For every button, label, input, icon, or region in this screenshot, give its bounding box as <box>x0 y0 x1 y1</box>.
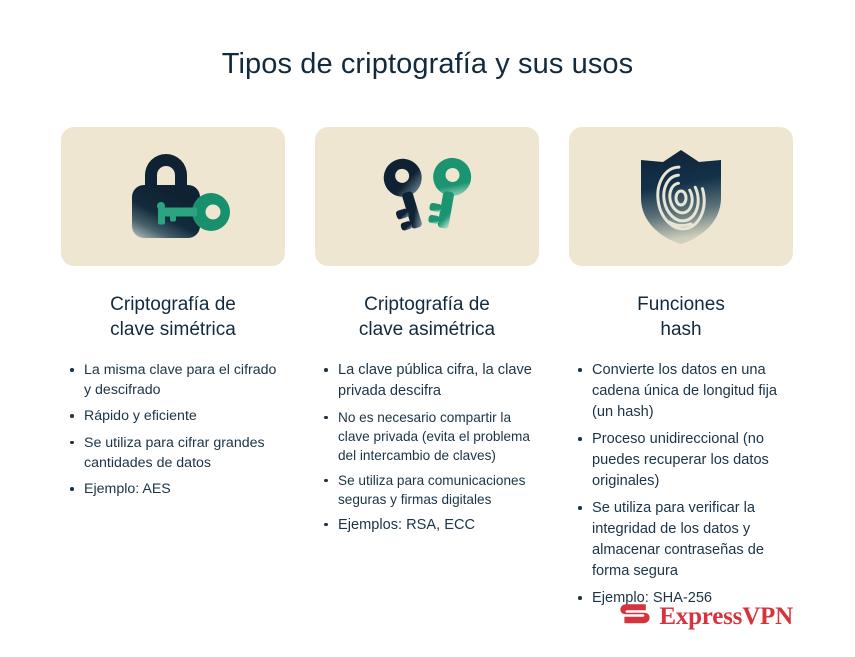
column-heading-hash: Funciones hash <box>569 292 793 342</box>
icon-card-hash <box>569 127 793 266</box>
page-title: Tipos de criptografía y sus usos <box>0 48 855 81</box>
column-asymmetric-cryptography: Criptografía de clave asimétrica La clav… <box>315 127 539 541</box>
list-item: Rápido y eficiente <box>67 406 285 426</box>
expressvpn-wordmark: ExpressVPN <box>659 603 793 631</box>
bullet-list-hash: Convierte los datos en una cadena única … <box>569 360 793 615</box>
list-item: Ejemplo: AES <box>67 479 285 499</box>
bullet-list-asymmetric: La clave pública cifra, la clave privada… <box>315 360 539 541</box>
list-item: La clave pública cifra, la clave privada… <box>321 360 539 401</box>
columns-container: Criptografía de clave simétrica La misma… <box>61 127 794 615</box>
list-item: Convierte los datos en una cadena única … <box>575 360 793 423</box>
icon-card-symmetric <box>61 127 285 266</box>
two-keys-icon <box>368 150 486 244</box>
list-item: No es necesario compartir la clave priva… <box>321 408 539 465</box>
column-heading-symmetric: Criptografía de clave simétrica <box>61 292 285 342</box>
list-item: Proceso unidireccional (no puedes recupe… <box>575 429 793 492</box>
padlock-with-key-icon <box>111 150 236 244</box>
column-heading-asymmetric: Criptografía de clave asimétrica <box>315 292 539 342</box>
icon-card-asymmetric <box>315 127 539 266</box>
expressvpn-e-mark-icon <box>620 601 650 633</box>
column-symmetric-cryptography: Criptografía de clave simétrica La misma… <box>61 127 285 505</box>
list-item: Ejemplos: RSA, ECC <box>321 515 539 536</box>
bullet-list-symmetric: La misma clave para el cifrado y descifr… <box>61 360 285 505</box>
list-item: Se utiliza para comunicaciones seguras y… <box>321 471 539 509</box>
list-item: Se utiliza para verificar la integridad … <box>575 498 793 582</box>
list-item: Se utiliza para cifrar grandes cantidade… <box>67 433 285 473</box>
expressvpn-logo: ExpressVPN <box>620 601 793 633</box>
infographic-root: Tipos de criptografía y sus usos <box>0 0 855 657</box>
shield-fingerprint-icon <box>639 148 723 246</box>
list-item: La misma clave para el cifrado y descifr… <box>67 360 285 400</box>
column-hash-functions: Funciones hash Convierte los datos en un… <box>569 127 793 615</box>
